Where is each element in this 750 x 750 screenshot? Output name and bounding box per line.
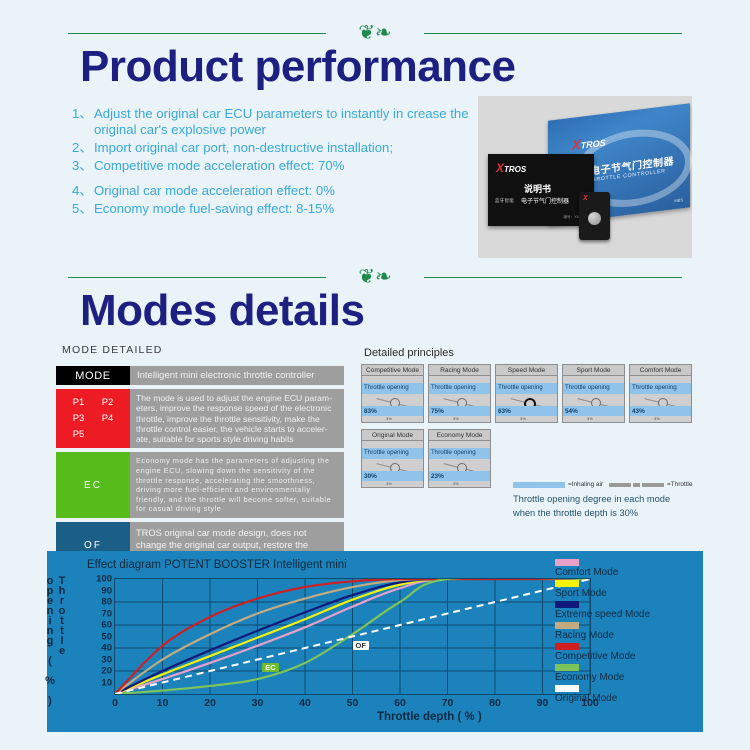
chart-title: Effect diagram POTENT BOOSTER Intelligen…	[87, 559, 347, 571]
principle-card-title: Comfort Mode	[629, 364, 692, 376]
depth-tick-label: 3%	[654, 416, 660, 421]
table-row-key: EC	[56, 452, 130, 518]
chart-annotation-of: OF	[353, 641, 369, 650]
mode-detailed-table: MODE Intelligent mini electronic throttl…	[56, 366, 344, 572]
principle-card: Speed ModeThrottle opening63%3%	[495, 364, 558, 423]
principles-legend: =Inhaling air =Throttle Throttle opening…	[513, 481, 728, 520]
depth-tick-label: 3%	[386, 481, 392, 486]
chart-x-tick: 10	[157, 697, 169, 709]
chart-legend-item: Economy Mode	[555, 664, 650, 684]
page-title-modes-details: Modes details	[80, 286, 364, 336]
legend-inhaling-label: =Inhaling air	[568, 481, 603, 488]
depth-tick-label: 3%	[520, 416, 526, 421]
chart-x-tick: 0	[112, 697, 118, 709]
throttle-swatch-a	[609, 483, 631, 487]
chart-y-tick: 80	[101, 597, 112, 608]
table-row: P1 P2 P3 P4 P5 The mode is used to adjus…	[56, 389, 344, 448]
chart-y-axis-label: Throttle opening ( % )	[45, 575, 67, 715]
chart-x-tick: 20	[204, 697, 216, 709]
product-performance-list: 1、 Adjust the original car ECU parameter…	[72, 106, 472, 219]
principle-card-body: Throttle opening75%3%	[428, 376, 491, 423]
legend-caption-line2: when the throttle depth is 30%	[513, 506, 728, 520]
legend-caption-line1: Throttle opening degree in each mode	[513, 492, 728, 506]
chart-legend: Comfort ModeSport ModeExtreme speed Mode…	[555, 559, 650, 706]
table-row-value: Economy mode has the parameters of adjus…	[130, 452, 344, 518]
chart-x-tick: 60	[394, 697, 406, 709]
chart-legend-item: Original Mode	[555, 685, 650, 705]
chart-y-tick: 20	[101, 666, 112, 677]
throttle-opening-value: 23%	[431, 473, 444, 480]
brand-logo-device: X	[583, 195, 588, 202]
table-row-key: P1 P2 P3 P4 P5	[56, 389, 130, 448]
principle-card-body: Throttle opening83%3%	[361, 376, 424, 423]
chart-x-tick: 70	[442, 697, 454, 709]
manual-chinese-title: 说明书	[524, 182, 551, 195]
mode-key-p4: P4	[94, 412, 121, 426]
throttle-swatch-c	[642, 483, 664, 487]
list-item: 3、 Competitive mode acceleration effect:…	[72, 158, 472, 174]
principle-cards-row-1: Competitive ModeThrottle opening83%3%Rac…	[361, 364, 692, 423]
divider-line-right	[424, 33, 682, 34]
list-item: 4、 Original car mode acceleration effect…	[72, 183, 472, 199]
chart-y-tick: 40	[101, 643, 112, 654]
mode-key-p5: P5	[65, 428, 92, 442]
throttle-opening-value: 83%	[364, 408, 377, 415]
legend-color-swatch	[555, 664, 579, 671]
principle-card: Racing ModeThrottle opening75%3%	[428, 364, 491, 423]
chart-y-tick: 10	[101, 677, 112, 688]
chart-legend-item: Extreme speed Mode	[555, 601, 650, 621]
detailed-principles-label: Detailed principles	[364, 347, 454, 359]
chart-x-axis-label: Throttle depth ( % )	[377, 711, 482, 723]
effect-diagram-chart: Effect diagram POTENT BOOSTER Intelligen…	[47, 551, 703, 732]
legend-color-swatch	[555, 622, 579, 629]
legend-color-swatch	[555, 643, 579, 650]
chart-y-tick: 70	[101, 608, 112, 619]
chart-legend-item: Comfort Mode	[555, 559, 650, 579]
principle-card-title: Economy Mode	[428, 429, 491, 441]
chart-x-tick: 50	[347, 697, 359, 709]
principle-card: Original ModeThrottle opening30%3%	[361, 429, 424, 488]
list-item: 5、 Economy mode fuel-saving effect: 8-15…	[72, 201, 472, 217]
table-row: EC Economy mode has the parameters of ad…	[56, 452, 344, 518]
legend-label: Extreme speed Mode	[555, 609, 650, 621]
mode-key-p2: P2	[94, 396, 121, 410]
principle-card-title: Speed Mode	[495, 364, 558, 376]
depth-tick-label: 3%	[587, 416, 593, 421]
list-item-text: Original car mode acceleration effect: 0…	[94, 183, 472, 199]
box-model-code: MBS	[674, 197, 683, 203]
legend-label: Original Mode	[555, 693, 650, 705]
table-row-value: Intelligent mini electronic throttle con…	[130, 366, 344, 385]
principle-card-title: Original Mode	[361, 429, 424, 441]
mode-key-p3: P3	[65, 412, 92, 426]
page-title-product-performance: Product performance	[80, 42, 515, 92]
depth-tick-label: 3%	[386, 416, 392, 421]
list-item-text: Import original car port, non-destructiv…	[94, 140, 472, 156]
divider-line-right	[424, 277, 682, 278]
chart-y-tick: 50	[101, 631, 112, 642]
principle-card-title: Racing Mode	[428, 364, 491, 376]
chart-x-tick: 30	[252, 697, 264, 709]
list-item-number: 3、	[72, 158, 94, 174]
legend-throttle-label: =Throttle	[667, 481, 692, 488]
legend-label: Sport Mode	[555, 588, 650, 600]
principle-card-body: Throttle opening63%3%	[495, 376, 558, 423]
legend-row: =Inhaling air =Throttle	[513, 481, 728, 488]
chart-y-tick: 30	[101, 654, 112, 665]
chart-y-tick: 100	[96, 574, 112, 585]
inhaling-air-swatch	[513, 482, 565, 488]
throttle-opening-value: 54%	[565, 408, 578, 415]
throttle-swatch-b	[633, 483, 640, 487]
principle-card-title: Sport Mode	[562, 364, 625, 376]
principle-card-body: Throttle opening54%3%	[562, 376, 625, 423]
legend-color-swatch	[555, 685, 579, 692]
table-row-key: MODE	[56, 366, 130, 385]
throttle-opening-label: Throttle opening	[431, 384, 476, 391]
list-item: 1、 Adjust the original car ECU parameter…	[72, 106, 472, 138]
principle-card: Economy ModeThrottle opening23%3%	[428, 429, 491, 488]
principle-card: Sport ModeThrottle opening54%3%	[562, 364, 625, 423]
flourish-ornament-icon: ❦❧	[358, 22, 392, 42]
throttle-opening-label: Throttle opening	[632, 384, 677, 391]
chart-x-tick: 80	[489, 697, 501, 709]
chart-annotation-ec: EC	[262, 663, 278, 672]
principle-card-body: Throttle opening30%3%	[361, 441, 424, 488]
principle-card-body: Throttle opening43%3%	[629, 376, 692, 423]
legend-color-swatch	[555, 601, 579, 608]
legend-label: Economy Mode	[555, 672, 650, 684]
ornament-divider-top: ❦❧	[68, 22, 682, 44]
list-item-text: Competitive mode acceleration effect: 70…	[94, 158, 472, 174]
ornament-divider-middle: ❦❧	[68, 266, 682, 288]
principle-card-title: Competitive Mode	[361, 364, 424, 376]
brand-logo-manual: XTROS	[496, 161, 526, 175]
principle-card: Competitive ModeThrottle opening83%3%	[361, 364, 424, 423]
depth-tick-label: 3%	[453, 416, 459, 421]
throttle-opening-value: 43%	[632, 408, 645, 415]
list-item-text: Economy mode fuel-saving effect: 8-15%	[94, 201, 472, 217]
table-row: MODE Intelligent mini electronic throttl…	[56, 366, 344, 385]
throttle-opening-value: 30%	[364, 473, 377, 480]
chart-x-tick: 40	[299, 697, 311, 709]
throttle-opening-value: 75%	[431, 408, 444, 415]
list-item-number: 5、	[72, 201, 94, 217]
principle-card: Comfort ModeThrottle opening43%3%	[629, 364, 692, 423]
mode-key-p1: P1	[65, 396, 92, 410]
list-item-number: 2、	[72, 140, 94, 156]
product-photo: XTROS 旗乐 电子节气门控制器 THROTTLE CONTROLLER MB…	[478, 96, 692, 258]
list-item-number: 1、	[72, 106, 94, 138]
chart-legend-item: Racing Mode	[555, 622, 650, 642]
chart-y-tick: 60	[101, 620, 112, 631]
throttle-opening-label: Throttle opening	[364, 449, 409, 456]
throttle-opening-label: Throttle opening	[498, 384, 543, 391]
principle-cards-row-2: Original ModeThrottle opening30%3%Econom…	[361, 429, 491, 488]
manual-chinese-subtitle: 电子节气门控制器	[521, 196, 569, 205]
throttle-opening-value: 63%	[498, 408, 511, 415]
legend-label: Comfort Mode	[555, 567, 650, 579]
divider-line-left	[68, 33, 326, 34]
legend-label: Racing Mode	[555, 630, 650, 642]
throttle-opening-label: Throttle opening	[431, 449, 476, 456]
chart-curves	[115, 579, 590, 694]
chart-legend-item: Sport Mode	[555, 580, 650, 600]
flourish-ornament-icon: ❦❧	[358, 266, 392, 286]
mode-detailed-label: MODE DETAILED	[62, 344, 163, 356]
throttle-opening-label: Throttle opening	[565, 384, 610, 391]
chart-x-tick: 90	[537, 697, 549, 709]
list-item-text: Adjust the original car ECU parameters t…	[94, 106, 472, 138]
list-item-number: 4、	[72, 183, 94, 199]
depth-tick-label: 3%	[453, 481, 459, 486]
divider-line-left	[68, 277, 326, 278]
throttle-opening-label: Throttle opening	[364, 384, 409, 391]
legend-color-swatch	[555, 580, 579, 587]
device-button-icon	[588, 212, 601, 225]
legend-label: Competitive Mode	[555, 651, 650, 663]
principle-card-body: Throttle opening23%3%	[428, 441, 491, 488]
chart-legend-item: Competitive Mode	[555, 643, 650, 663]
manual-badge: 蓝牙智能	[495, 198, 514, 204]
table-row-value: The mode is used to adjust the engine EC…	[130, 389, 344, 448]
list-item: 2、 Import original car port, non-destruc…	[72, 140, 472, 156]
chart-plot-area: 1020304050607080901000102030405060708090…	[114, 578, 591, 695]
legend-color-swatch	[555, 559, 579, 566]
throttle-controller-device: X	[579, 192, 610, 240]
chart-y-tick: 90	[101, 585, 112, 596]
